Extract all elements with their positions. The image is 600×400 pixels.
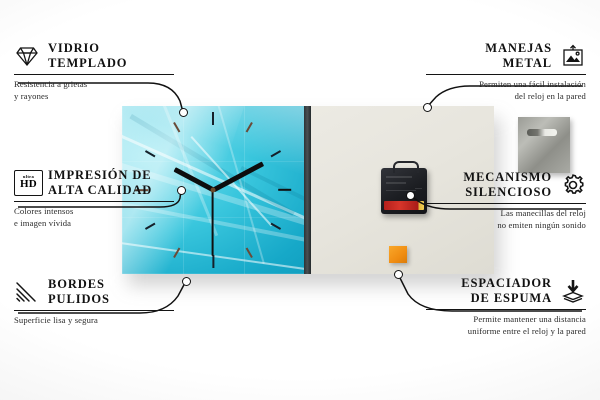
feature-title-2: METAL	[485, 56, 552, 71]
ultra-hd-icon-main: HD	[20, 179, 37, 190]
callout-dot-mecanismo	[406, 191, 415, 200]
gear-icon	[560, 172, 586, 198]
feature-rule	[426, 203, 586, 204]
clock-second-hand	[212, 190, 214, 256]
feature-title: IMPRESIÓN DE	[48, 168, 152, 183]
feature-rule	[14, 310, 174, 311]
feature-rule	[14, 201, 174, 202]
ultra-hd-icon: ultra HD	[14, 170, 40, 196]
feature-rule	[426, 309, 586, 310]
callout-dot-espaciador	[394, 270, 403, 279]
hanger-keyhole-slot	[527, 129, 557, 136]
callout-dot-bordes	[182, 277, 191, 286]
feature-title-2: TEMPLADO	[48, 56, 127, 71]
callout-dot-manejas	[423, 103, 432, 112]
feature-rule	[426, 74, 586, 75]
feature-impresion-alta-calidad: ultra HD IMPRESIÓN DE ALTA CALIDAD Color…	[14, 168, 174, 229]
clock-tick	[212, 112, 214, 125]
picture-hanger-icon	[560, 43, 586, 69]
feature-title: VIDRIO	[48, 41, 127, 56]
feature-sub-2: uniforme entre el reloj y la pared	[426, 326, 586, 337]
feature-manejas-metal: MANEJAS METAL Permiten una fácil instala…	[426, 41, 586, 102]
clock-tick	[278, 189, 291, 191]
feature-title-2: PULIDOS	[48, 292, 110, 307]
feature-sub-2: del reloj en la pared	[426, 91, 586, 102]
feature-sub-2: no emiten ningún sonido	[426, 220, 586, 231]
foam-spacer	[389, 246, 407, 263]
callout-dot-impresion	[177, 186, 186, 195]
feature-title-2: ALTA CALIDAD	[48, 183, 152, 198]
feature-title-2: DE ESPUMA	[461, 291, 552, 306]
feature-title: MANEJAS	[485, 41, 552, 56]
feature-title-2: SILENCIOSO	[463, 185, 552, 200]
feature-sub-1: Permite mantener una distancia	[426, 314, 586, 325]
feature-sub-1: Las manecillas del reloj	[426, 208, 586, 219]
feature-vidrio-templado: VIDRIO TEMPLADO Resistencia a grietas y …	[14, 41, 174, 102]
feature-sub-1: Superficie lisa y segura	[14, 315, 174, 326]
infographic-canvas: VIDRIO TEMPLADO Resistencia a grietas y …	[0, 0, 600, 400]
mechanism-battery	[384, 201, 424, 210]
polished-edge-strip	[304, 106, 311, 274]
feature-bordes-pulidos: BORDES PULIDOS Superficie lisa y segura	[14, 277, 174, 327]
feature-title: MECANISMO	[463, 170, 552, 185]
metal-hanger-plate	[518, 117, 570, 173]
callout-dot-vidrio	[179, 108, 188, 117]
feature-sub-1: Colores intensos	[14, 206, 174, 217]
feature-rule	[14, 74, 174, 75]
feature-sub-2: y rayones	[14, 91, 174, 102]
foam-spacer-icon	[560, 278, 586, 304]
feature-espaciador-espuma: ESPACIADOR DE ESPUMA Permite mantener un…	[426, 276, 586, 337]
feature-title: BORDES	[48, 277, 110, 292]
quartz-mechanism	[381, 168, 427, 214]
feature-mecanismo-silencioso: MECANISMO SILENCIOSO Las manecillas del …	[426, 170, 586, 231]
diamond-icon	[14, 43, 40, 69]
feature-sub-1: Resistencia a grietas	[14, 79, 174, 90]
clock-pivot	[211, 188, 216, 193]
feature-title: ESPACIADOR	[461, 276, 552, 291]
clock-tick	[212, 255, 214, 268]
polished-edges-icon	[14, 279, 40, 305]
feature-sub-1: Permiten una fácil instalación	[426, 79, 586, 90]
mechanism-bail	[393, 161, 419, 173]
feature-sub-2: e imagen vívida	[14, 218, 174, 229]
